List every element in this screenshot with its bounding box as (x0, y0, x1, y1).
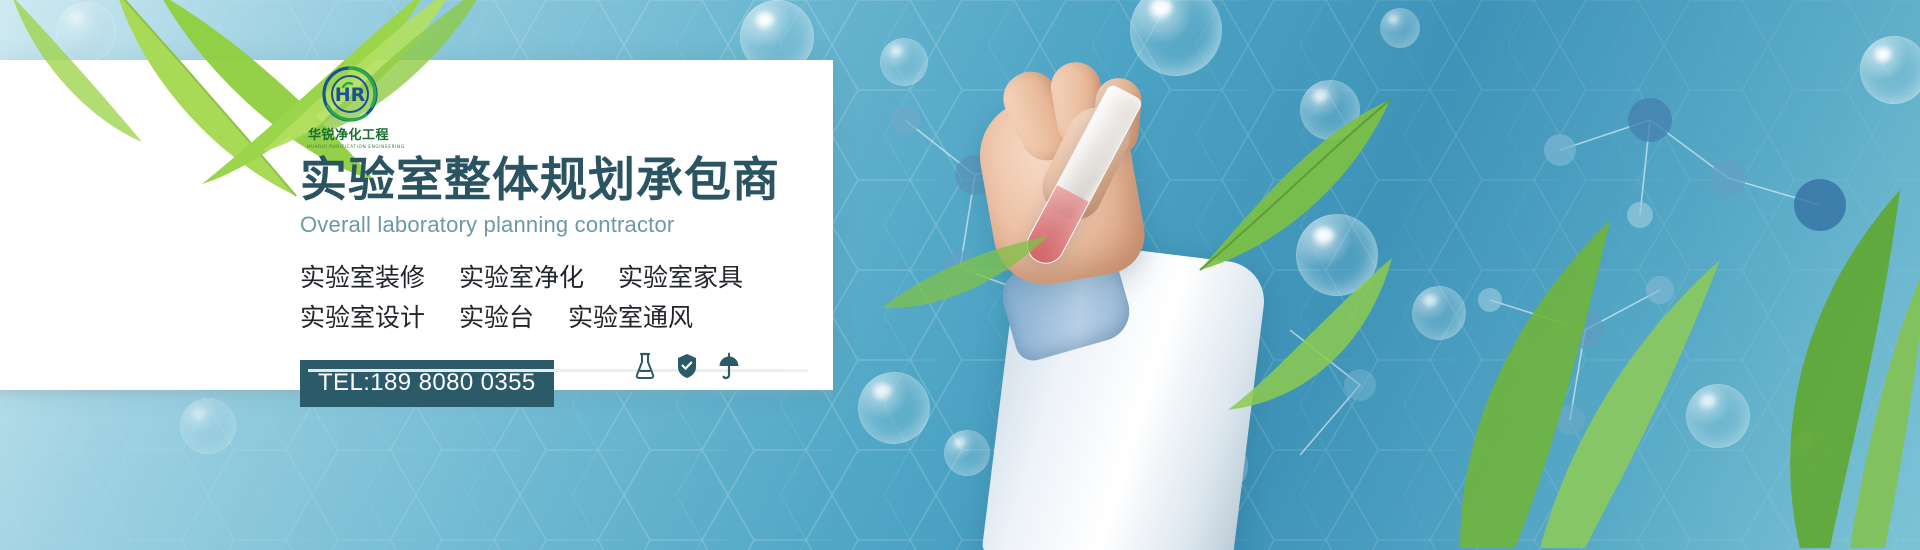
hero-content: HR 华锐净化工程 HUARUI PURIFICATION ENGINEERIN… (300, 66, 820, 407)
service-item: 实验室家具 (618, 263, 743, 292)
page-subtitle: Overall laboratory planning contractor (300, 212, 820, 238)
service-row-1: 实验室装修 实验室净化 实验室家具 (300, 258, 820, 299)
feature-icon-row (634, 352, 740, 380)
bubble (880, 38, 928, 86)
leaf-decoration (880, 230, 1050, 320)
bubble (858, 372, 930, 444)
hr-monogram-circle-logo: HR (322, 66, 378, 122)
bamboo-leaf (6, 0, 146, 146)
service-item: 实验室设计 (300, 303, 425, 332)
promo-banner: HR 华锐净化工程 HUARUI PURIFICATION ENGINEERIN… (0, 0, 1920, 550)
bubble (180, 398, 236, 454)
leaf-decoration (1220, 250, 1400, 420)
shield-icon (676, 352, 698, 380)
umbrella-icon (718, 352, 740, 380)
bubble (944, 430, 990, 476)
service-list: 实验室装修 实验室净化 实验室家具 实验室设计 实验台 实验室通风 (300, 258, 820, 339)
leaf-decoration (1700, 170, 1920, 550)
flask-icon (634, 352, 656, 380)
brand-logo[interactable]: HR 华锐净化工程 HUARUI PURIFICATION ENGINEERIN… (308, 66, 404, 149)
brand-name-cn: 华锐净化工程 (308, 124, 389, 143)
bubble (1860, 36, 1920, 104)
service-item: 实验台 (459, 303, 534, 332)
leaf-decoration (1420, 200, 1740, 550)
service-item: 实验室净化 (459, 263, 584, 292)
service-row-2: 实验室设计 实验台 实验室通风 (300, 298, 820, 339)
phone-cta-button[interactable]: TEL:189 8080 0355 (300, 360, 554, 407)
service-item: 实验室通风 (568, 303, 693, 332)
service-item: 实验室装修 (300, 263, 425, 292)
brand-name-pinyin: HUARUI PURIFICATION ENGINEERING (307, 144, 405, 149)
bubble (1380, 8, 1420, 48)
page-title: 实验室整体规划承包商 (300, 157, 820, 206)
svg-text:HR: HR (335, 84, 366, 106)
